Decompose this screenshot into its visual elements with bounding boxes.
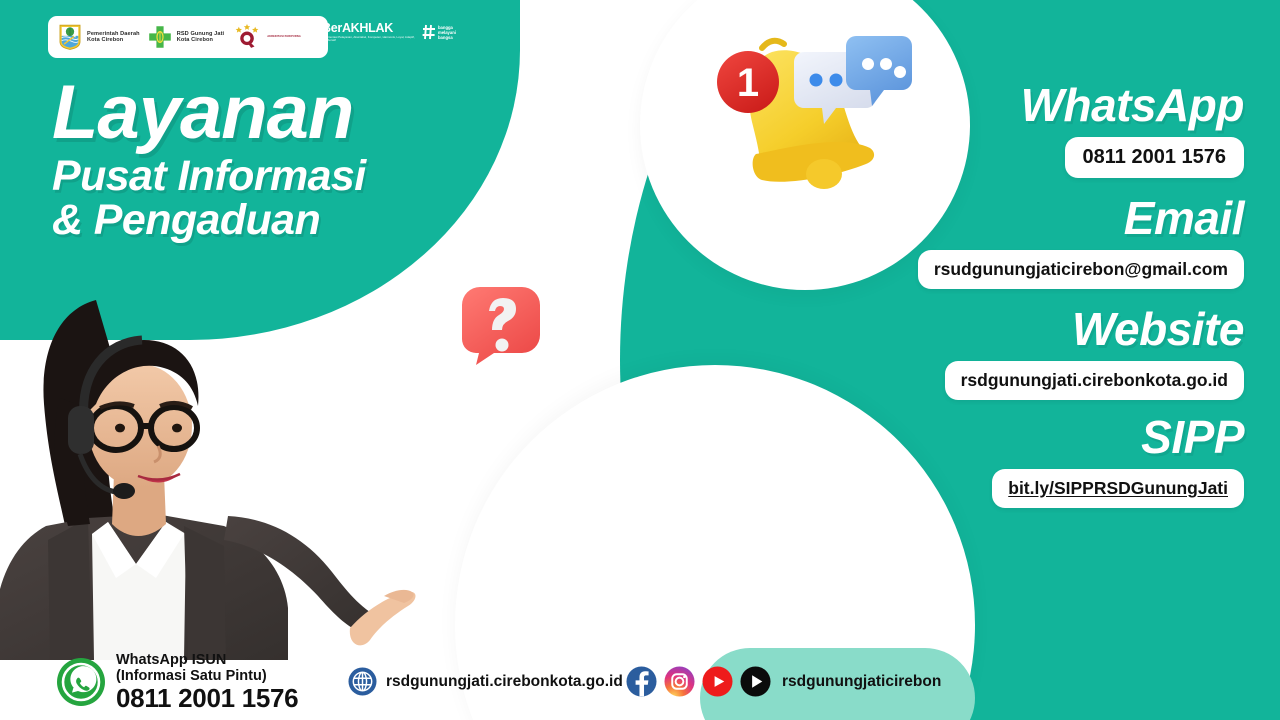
contact-label-website: Website: [814, 306, 1244, 352]
whatsapp-icon: [56, 657, 106, 707]
headline-block: Layanan Pusat Informasi & Pengaduan: [52, 78, 366, 242]
notification-bell-illustration: 1: [700, 28, 920, 203]
youtube-icon[interactable]: [702, 666, 733, 697]
akreditasi-paripurna-q-icon: [232, 22, 262, 52]
facebook-icon[interactable]: [626, 666, 657, 697]
berakhlak-prefix: Ber: [322, 21, 342, 35]
hashtag-icon: [422, 24, 436, 40]
headline-sub-line2: & Pengaduan: [52, 199, 366, 243]
berakhlak-bold: AKHLAK: [342, 21, 393, 35]
contact-website: Website rsdgunungjati.cirebonkota.go.id: [814, 306, 1244, 400]
footer-social-block: rsdgunungjaticirebon: [626, 666, 941, 697]
contact-email: Email rsudgunungjaticirebon@gmail.com: [814, 195, 1244, 289]
headline-main: Layanan: [52, 78, 366, 149]
headline-sub-line1: Pusat Informasi: [52, 155, 366, 199]
institution-logo-bar: Pemerintah Daerah Kota Cirebon RSD Gunun…: [48, 16, 328, 58]
contact-sipp: SIPP bit.ly/SIPPRSDGunungJati: [814, 414, 1244, 508]
contact-label-sipp: SIPP: [814, 414, 1244, 460]
contact-value-website[interactable]: rsdgunungjati.cirebonkota.go.id: [945, 361, 1244, 400]
footer-whatsapp-line1: WhatsApp ISUN: [116, 652, 298, 668]
logo-akreditasi: AKREDITASI PARIPURNA: [232, 22, 301, 52]
footer-bar: WhatsApp ISUN (Informasi Satu Pintu) 081…: [0, 644, 1280, 720]
footer-whatsapp-block[interactable]: WhatsApp ISUN (Informasi Satu Pintu) 081…: [56, 652, 298, 712]
footer-whatsapp-number: 0811 2001 1576: [116, 685, 298, 712]
berakhlak-tagline: Berorientasi Pelayanan, Akuntabel, Kompe…: [322, 36, 418, 43]
contact-value-email[interactable]: rsudgunungjaticirebon@gmail.com: [918, 250, 1244, 289]
logo-pemerintah-line2: Kota Cirebon: [87, 37, 140, 43]
call-center-agent-photo: [0, 278, 418, 660]
cirebon-city-crest-icon: [58, 24, 82, 50]
contact-value-sipp[interactable]: bit.ly/SIPPRSDGunungJati: [992, 469, 1244, 508]
footer-social-handle: rsdgunungjaticirebon: [782, 673, 941, 691]
logo-rsd-line2: Kota Cirebon: [177, 37, 225, 43]
instagram-icon[interactable]: [664, 666, 695, 697]
footer-website-block[interactable]: rsdgunungjati.cirebonkota.go.id: [348, 667, 623, 696]
contact-value-whatsapp[interactable]: 0811 2001 1576: [1065, 137, 1245, 178]
berakhlak-side-line3: bangsa: [438, 35, 456, 40]
logo-akreditasi-caption: AKREDITASI PARIPURNA: [267, 36, 301, 39]
logo-pemerintah-daerah: Pemerintah Daerah Kota Cirebon: [58, 24, 140, 50]
notification-badge-count: 1: [737, 61, 759, 105]
green-cross-hospital-icon: [148, 25, 172, 49]
logo-rsd-gunung-jati: RSD Gunung Jati Kota Cirebon: [148, 25, 225, 49]
globe-icon: [348, 667, 377, 696]
tiktok-icon[interactable]: [740, 666, 771, 697]
question-mark-bubble-icon: [458, 283, 544, 365]
poster-canvas: Pemerintah Daerah Kota Cirebon RSD Gunun…: [0, 0, 1280, 720]
berakhlak-logo: BerAKHLAK Berorientasi Pelayanan, Akunta…: [322, 22, 456, 43]
footer-website-url: rsdgunungjati.cirebonkota.go.id: [386, 673, 623, 691]
